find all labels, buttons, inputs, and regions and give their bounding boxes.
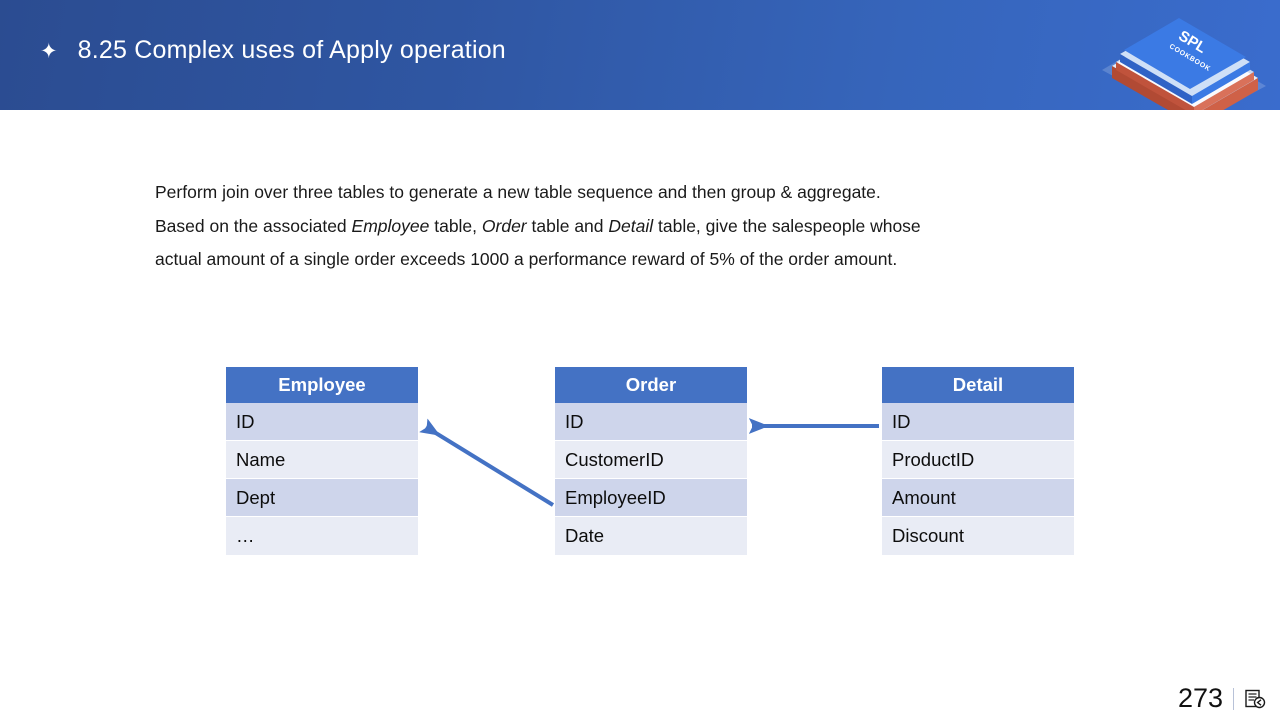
description-line-2-text-d: table, give the salespeople whose: [653, 216, 921, 236]
description-line-2-text-c: table and: [527, 216, 609, 236]
table-order-title: Order: [555, 367, 747, 403]
table-name-order: Order: [482, 216, 527, 236]
description-line-2-text-b: table,: [429, 216, 482, 236]
table-order-field-employeeid: EmployeeID: [555, 479, 747, 517]
table-order-field-date: Date: [555, 517, 747, 555]
arrow-order-employeeid-to-employee-id: [426, 427, 553, 505]
table-employee: Employee ID Name Dept …: [226, 367, 418, 555]
table-employee-field-id: ID: [226, 403, 418, 441]
table-detail-field-productid: ProductID: [882, 441, 1074, 479]
footer-divider: [1233, 688, 1234, 710]
slide-footer: 273: [1178, 683, 1266, 714]
header-title-row: ✦ 8.25 Complex uses of Apply operation: [40, 36, 506, 65]
document-back-icon[interactable]: [1244, 688, 1266, 710]
table-order-field-id: ID: [555, 403, 747, 441]
page-number: 273: [1178, 683, 1223, 714]
table-employee-title: Employee: [226, 367, 418, 403]
description-paragraph: Perform join over three tables to genera…: [155, 176, 1075, 277]
description-line-2: Based on the associated Employee table, …: [155, 210, 1075, 244]
description-line-3: actual amount of a single order exceeds …: [155, 243, 1075, 277]
table-detail: Detail ID ProductID Amount Discount: [882, 367, 1074, 555]
table-name-employee: Employee: [352, 216, 430, 236]
description-line-1: Perform join over three tables to genera…: [155, 176, 1075, 210]
table-detail-field-amount: Amount: [882, 479, 1074, 517]
table-employee-field-dept: Dept: [226, 479, 418, 517]
table-detail-title: Detail: [882, 367, 1074, 403]
four-point-star-bullet-icon: ✦: [40, 41, 58, 62]
table-employee-field-more: …: [226, 517, 418, 555]
description-line-1-text: Perform join over three tables to genera…: [155, 182, 881, 202]
slide-header: ✦ 8.25 Complex uses of Apply operation S…: [0, 0, 1280, 110]
table-order: Order ID CustomerID EmployeeID Date: [555, 367, 747, 555]
description-line-2-text-a: Based on the associated: [155, 216, 352, 236]
table-employee-field-name: Name: [226, 441, 418, 479]
table-detail-field-discount: Discount: [882, 517, 1074, 555]
description-line-3-text: actual amount of a single order exceeds …: [155, 249, 897, 269]
page-title: 8.25 Complex uses of Apply operation: [78, 36, 506, 65]
spl-cookbook-logo: SPL COOKBOOK: [1094, 8, 1274, 110]
table-name-detail: Detail: [608, 216, 653, 236]
table-order-field-customerid: CustomerID: [555, 441, 747, 479]
table-detail-field-id: ID: [882, 403, 1074, 441]
